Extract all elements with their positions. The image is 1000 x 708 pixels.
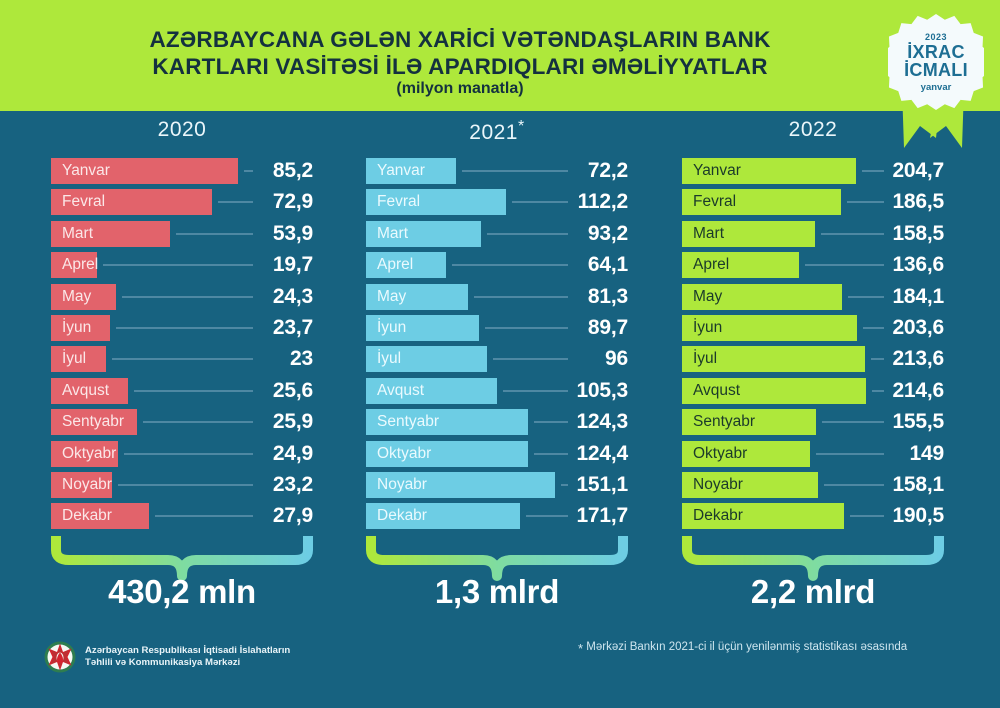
year-total: 430,2 mln	[51, 573, 313, 611]
month-label: Mart	[366, 225, 408, 243]
year-total: 2,2 mlrd	[682, 573, 944, 611]
value-label: 149	[854, 442, 944, 466]
value-label: 155,5	[854, 410, 944, 434]
value-bar: İyul	[51, 346, 106, 372]
value-label: 213,6	[854, 347, 944, 371]
value-bar: Mart	[682, 221, 815, 247]
month-label: Aprel	[682, 256, 729, 274]
month-rows: Yanvar72,2Fevral112,2Mart93,2Aprel64,1Ma…	[366, 158, 628, 535]
value-bar: Dekabr	[51, 503, 149, 529]
value-label: 72,2	[538, 159, 628, 183]
month-label: Avqust	[51, 382, 109, 400]
badge-line2: İCMALI	[904, 61, 968, 80]
bar-row: Sentyabr25,9	[51, 409, 313, 440]
month-label: İyul	[682, 350, 717, 368]
value-label: 124,3	[538, 410, 628, 434]
value-label: 105,3	[538, 379, 628, 403]
value-bar: Noyabr	[51, 472, 112, 498]
page-title: AZƏRBAYCANA GƏLƏN XARİCİ VƏTƏNDAŞLARIN B…	[90, 26, 830, 80]
month-label: May	[366, 288, 406, 306]
bar-row: Aprel136,6	[682, 252, 944, 283]
value-bar: Avqust	[682, 378, 866, 404]
value-bar: Fevral	[682, 189, 841, 215]
bar-row: Yanvar85,2	[51, 158, 313, 189]
value-bar: Oktyabr	[366, 441, 528, 467]
month-rows: Yanvar85,2Fevral72,9Mart53,9Aprel19,7May…	[51, 158, 313, 535]
value-label: 85,2	[223, 159, 313, 183]
footnote: * Mərkəzi Bankın 2021-ci il üçün yenilən…	[578, 641, 907, 656]
bar-row: İyun89,7	[366, 315, 628, 346]
page-subtitle: (milyon manatla)	[90, 80, 830, 98]
value-label: 184,1	[854, 285, 944, 309]
month-label: Aprel	[366, 256, 413, 274]
value-label: 23,2	[223, 473, 313, 497]
value-label: 25,6	[223, 379, 313, 403]
value-bar: Yanvar	[51, 158, 238, 184]
value-bar: Aprel	[51, 252, 97, 278]
value-label: 93,2	[538, 222, 628, 246]
value-bar: Avqust	[366, 378, 497, 404]
month-label: Avqust	[366, 382, 424, 400]
organization-name-line2: Təhlili və Kommunikasiya Mərkəzi	[85, 657, 290, 670]
badge-month: yanvar	[921, 82, 952, 93]
bar-row: Avqust105,3	[366, 378, 628, 409]
value-label: 186,5	[854, 190, 944, 214]
value-bar: Sentyabr	[682, 409, 816, 435]
month-label: Dekabr	[51, 507, 112, 525]
bar-row: Oktyabr24,9	[51, 441, 313, 472]
value-bar: Mart	[51, 221, 170, 247]
month-label: Dekabr	[682, 507, 743, 525]
bar-row: Mart158,5	[682, 221, 944, 252]
bar-row: Fevral112,2	[366, 189, 628, 220]
month-label: İyul	[366, 350, 401, 368]
value-label: 53,9	[223, 222, 313, 246]
value-bar: Aprel	[682, 252, 799, 278]
column-year-text: 2021	[469, 121, 518, 144]
month-label: Oktyabr	[366, 445, 431, 463]
bar-row: İyul96	[366, 346, 628, 377]
value-label: 23,7	[223, 316, 313, 340]
value-label: 24,9	[223, 442, 313, 466]
organization-logo: Azərbaycan Respublikası İqtisadi İslahat…	[44, 641, 290, 673]
month-label: Yanvar	[51, 162, 110, 180]
month-label: Sentyabr	[366, 413, 439, 431]
bar-row: Yanvar72,2	[366, 158, 628, 189]
month-rows: Yanvar204,7Fevral186,5Mart158,5Aprel136,…	[682, 158, 944, 535]
value-bar: Yanvar	[682, 158, 856, 184]
bar-row: Oktyabr149	[682, 441, 944, 472]
value-bar: Mart	[366, 221, 481, 247]
value-label: 89,7	[538, 316, 628, 340]
month-label: Fevral	[51, 193, 105, 211]
value-bar: İyun	[366, 315, 479, 341]
bar-row: Dekabr27,9	[51, 503, 313, 534]
bar-row: İyun203,6	[682, 315, 944, 346]
column-year-label: 2021*	[366, 118, 628, 145]
value-bar: Sentyabr	[366, 409, 528, 435]
infographic-root: AZƏRBAYCANA GƏLƏN XARİCİ VƏTƏNDAŞLARIN B…	[0, 0, 1000, 708]
bar-row: Avqust214,6	[682, 378, 944, 409]
value-bar: Oktyabr	[51, 441, 118, 467]
value-bar: Fevral	[51, 189, 212, 215]
value-bar: Dekabr	[366, 503, 520, 529]
value-label: 23	[223, 347, 313, 371]
month-label: İyun	[682, 319, 722, 337]
bar-row: Sentyabr155,5	[682, 409, 944, 440]
value-label: 124,4	[538, 442, 628, 466]
value-label: 96	[538, 347, 628, 371]
bar-row: Fevral186,5	[682, 189, 944, 220]
bar-row: Dekabr171,7	[366, 503, 628, 534]
month-label: Mart	[682, 225, 724, 243]
value-bar: May	[366, 284, 468, 310]
bar-row: Avqust25,6	[51, 378, 313, 409]
bar-row: Noyabr151,1	[366, 472, 628, 503]
value-label: 204,7	[854, 159, 944, 183]
bar-row: Aprel19,7	[51, 252, 313, 283]
month-label: İyul	[51, 350, 86, 368]
value-bar: Aprel	[366, 252, 446, 278]
value-label: 214,6	[854, 379, 944, 403]
badge-year: 2023	[925, 32, 947, 42]
value-bar: Yanvar	[366, 158, 456, 184]
bar-row: May24,3	[51, 284, 313, 315]
bar-row: İyul23	[51, 346, 313, 377]
value-label: 27,9	[223, 504, 313, 528]
value-label: 190,5	[854, 504, 944, 528]
month-label: Oktyabr	[682, 445, 747, 463]
month-label: Sentyabr	[682, 413, 755, 431]
value-label: 112,2	[538, 190, 628, 214]
month-label: Fevral	[682, 193, 736, 211]
bar-row: Fevral72,9	[51, 189, 313, 220]
footnote-asterisk: *	[578, 641, 583, 656]
value-bar: Fevral	[366, 189, 506, 215]
month-label: Fevral	[366, 193, 420, 211]
bar-row: Aprel64,1	[366, 252, 628, 283]
value-label: 158,5	[854, 222, 944, 246]
column-year-label: 2020	[51, 118, 313, 142]
value-label: 171,7	[538, 504, 628, 528]
month-label: İyun	[366, 319, 406, 337]
month-label: Noyabr	[366, 476, 427, 494]
value-bar: İyun	[682, 315, 857, 341]
month-label: Noyabr	[682, 476, 743, 494]
value-label: 72,9	[223, 190, 313, 214]
bar-row: Noyabr158,1	[682, 472, 944, 503]
bar-row: Noyabr23,2	[51, 472, 313, 503]
value-bar: May	[682, 284, 842, 310]
value-label: 158,1	[854, 473, 944, 497]
organization-name: Azərbaycan Respublikası İqtisadi İslahat…	[85, 645, 290, 670]
month-label: Noyabr	[51, 476, 112, 494]
value-bar: Oktyabr	[682, 441, 810, 467]
azerbaijan-emblem-icon	[44, 641, 76, 673]
value-bar: Avqust	[51, 378, 128, 404]
bar-row: İyun23,7	[51, 315, 313, 346]
value-label: 19,7	[223, 253, 313, 277]
bar-row: Mart53,9	[51, 221, 313, 252]
bar-row: Dekabr190,5	[682, 503, 944, 534]
value-bar: May	[51, 284, 116, 310]
value-bar: İyul	[682, 346, 865, 372]
month-label: Yanvar	[366, 162, 425, 180]
value-bar: İyun	[51, 315, 110, 341]
footnote-marker: *	[518, 118, 525, 135]
month-label: Mart	[51, 225, 93, 243]
column-year-label: 2022	[682, 118, 944, 142]
value-label: 25,9	[223, 410, 313, 434]
month-label: Aprel	[51, 256, 98, 274]
value-bar: Dekabr	[682, 503, 844, 529]
bar-row: İyul213,6	[682, 346, 944, 377]
month-label: Sentyabr	[51, 413, 124, 431]
value-bar: Noyabr	[682, 472, 818, 498]
bar-row: Oktyabr124,4	[366, 441, 628, 472]
bar-row: Sentyabr124,3	[366, 409, 628, 440]
bar-row: Mart93,2	[366, 221, 628, 252]
bar-row: May184,1	[682, 284, 944, 315]
value-label: 203,6	[854, 316, 944, 340]
value-bar: Sentyabr	[51, 409, 137, 435]
value-label: 151,1	[538, 473, 628, 497]
month-label: Dekabr	[366, 507, 427, 525]
footnote-text: Mərkəzi Bankın 2021-ci il üçün yenilənmi…	[586, 641, 907, 653]
month-label: Avqust	[682, 382, 740, 400]
organization-name-line1: Azərbaycan Respublikası İqtisadi İslahat…	[85, 645, 290, 658]
value-label: 136,6	[854, 253, 944, 277]
year-total: 1,3 mlrd	[366, 573, 628, 611]
badge-content: 2023 İXRAC İCMALI yanvar	[888, 14, 984, 110]
bar-row: Yanvar204,7	[682, 158, 944, 189]
month-label: Yanvar	[682, 162, 741, 180]
value-bar: Noyabr	[366, 472, 555, 498]
month-label: Oktyabr	[51, 445, 116, 463]
bar-row: May81,3	[366, 284, 628, 315]
badge-line1: İXRAC	[907, 43, 965, 61]
value-label: 64,1	[538, 253, 628, 277]
value-label: 81,3	[538, 285, 628, 309]
value-label: 24,3	[223, 285, 313, 309]
month-label: May	[682, 288, 722, 306]
month-label: May	[51, 288, 91, 306]
value-bar: İyul	[366, 346, 487, 372]
month-label: İyun	[51, 319, 91, 337]
